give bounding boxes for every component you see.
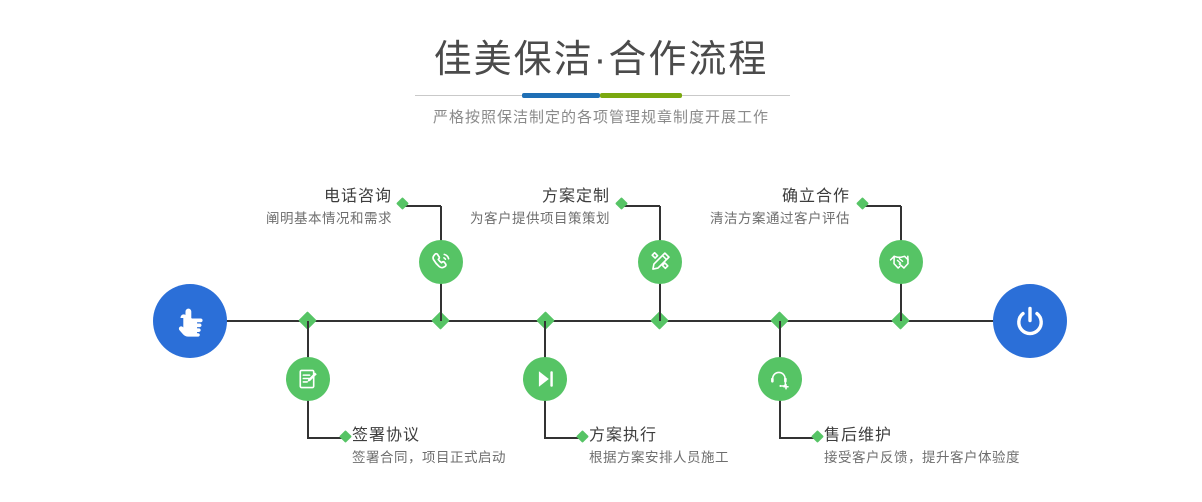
timeline-end-endpoint bbox=[993, 284, 1067, 358]
phone-call-icon bbox=[428, 249, 454, 275]
step-icon-circle-1 bbox=[419, 240, 463, 284]
step-desc-3: 为客户提供项目策策划 bbox=[370, 208, 610, 230]
step-icon-circle-3 bbox=[638, 240, 682, 284]
step-desc-5: 清洁方案通过客户评估 bbox=[610, 208, 850, 230]
power-icon bbox=[1010, 301, 1050, 341]
step-icon-circle-5 bbox=[879, 240, 923, 284]
step-desc-4: 根据方案安排人员施工 bbox=[589, 447, 849, 469]
timeline-start-endpoint bbox=[153, 284, 227, 358]
step-title-6: 售后维护 bbox=[824, 425, 1104, 447]
pencil-ruler-icon bbox=[647, 249, 673, 275]
connector-horizontal-step-5 bbox=[865, 205, 901, 207]
step-desc-2: 签署合同，项目正式启动 bbox=[352, 447, 612, 469]
flow-diagram: 佳美保洁·合作流程 严格按照保洁制定的各项管理规章制度开展工作 bbox=[0, 0, 1202, 502]
label-bullet-step-2 bbox=[339, 430, 352, 443]
step-title-5: 确立合作 bbox=[610, 186, 850, 208]
connector-horizontal-step-2 bbox=[307, 437, 343, 439]
step-label-2: 签署协议 签署合同，项目正式启动 bbox=[352, 425, 612, 469]
title-divider bbox=[415, 93, 790, 99]
step-title-4: 方案执行 bbox=[589, 425, 849, 447]
step-desc-6: 接受客户反馈，提升客户体验度 bbox=[824, 447, 1104, 469]
step-title-2: 签署协议 bbox=[352, 425, 612, 447]
step-label-3: 方案定制 为客户提供项目策策划 bbox=[370, 186, 610, 230]
step-icon-circle-2 bbox=[286, 357, 330, 401]
step-title-3: 方案定制 bbox=[370, 186, 610, 208]
step-label-1: 电话咨询 阐明基本情况和需求 bbox=[152, 186, 392, 230]
divider-green-segment bbox=[600, 93, 682, 98]
step-icon-circle-6 bbox=[758, 357, 802, 401]
step-label-4: 方案执行 根据方案安排人员施工 bbox=[589, 425, 849, 469]
customer-service-icon bbox=[767, 366, 793, 392]
page-title: 佳美保洁·合作流程 bbox=[0, 38, 1202, 82]
label-bullet-step-5 bbox=[856, 197, 869, 210]
connector-horizontal-step-4 bbox=[544, 437, 580, 439]
step-title-1: 电话咨询 bbox=[152, 186, 392, 208]
document-sign-icon bbox=[295, 366, 321, 392]
pointing-hand-icon bbox=[170, 301, 210, 341]
divider-blue-segment bbox=[522, 93, 600, 98]
handshake-icon bbox=[888, 249, 914, 275]
step-icon-circle-4 bbox=[523, 357, 567, 401]
play-execute-icon bbox=[532, 366, 558, 392]
page-subtitle: 严格按照保洁制定的各项管理规章制度开展工作 bbox=[0, 106, 1202, 130]
step-desc-1: 阐明基本情况和需求 bbox=[152, 208, 392, 230]
connector-horizontal-step-6 bbox=[779, 437, 815, 439]
step-label-6: 售后维护 接受客户反馈，提升客户体验度 bbox=[824, 425, 1104, 469]
step-label-5: 确立合作 清洁方案通过客户评估 bbox=[610, 186, 850, 230]
